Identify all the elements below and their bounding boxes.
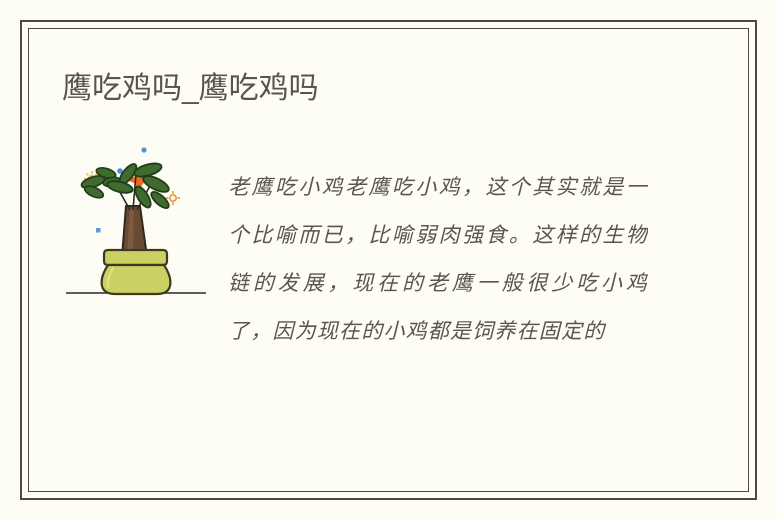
page-title: 鹰吃鸡吗_鹰吃鸡吗 <box>62 70 319 108</box>
pot-rim <box>104 250 167 265</box>
article-paragraph: 老鹰吃小鸡老鹰吃小鸡，这个其实就是一个比喻而已，比喻弱肉强食。这样的生物链的发展… <box>228 163 648 355</box>
plant-leaves-right <box>106 161 171 211</box>
article-body: 老鹰吃小鸡老鹰吃小鸡，这个其实就是一个比喻而已，比喻弱肉强食。这样的生物链的发展… <box>228 163 648 403</box>
blue-dot-top-icon <box>141 147 146 152</box>
page-root: 鹰吃鸡吗_鹰吃鸡吗 <box>0 0 777 520</box>
potted-plant-illustration <box>60 140 212 310</box>
blue-dot-small-icon <box>96 228 101 233</box>
